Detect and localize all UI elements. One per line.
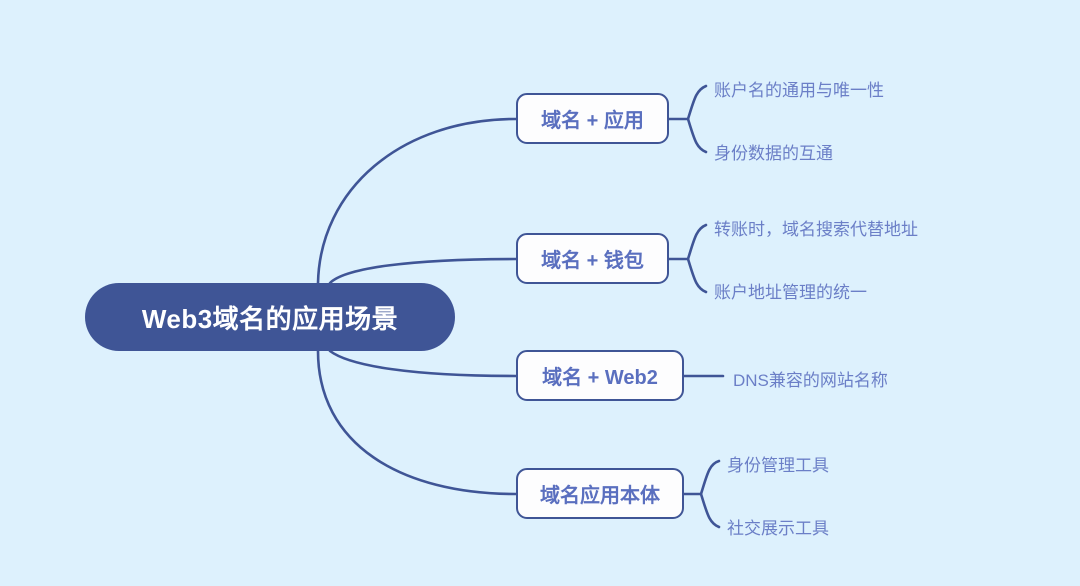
- edge-branch-4-to-leaf-2: [701, 494, 719, 527]
- branch-node-label: 域名 + 钱包: [541, 244, 644, 273]
- leaf-node[interactable]: 转账时，域名搜索代替地址: [714, 215, 918, 240]
- edge-branch-2-to-leaf-1: [688, 225, 706, 259]
- leaf-node[interactable]: 身份管理工具: [727, 451, 829, 476]
- edge-branch-1-to-leaf-1: [688, 86, 706, 119]
- branch-node-domain-native[interactable]: 域名应用本体: [516, 468, 684, 519]
- edge-branch-2-to-leaf-2: [688, 259, 706, 292]
- branch-node-label: 域名应用本体: [540, 479, 660, 508]
- root-node-label: Web3域名的应用场景: [142, 299, 398, 336]
- root-node[interactable]: Web3域名的应用场景: [85, 283, 455, 351]
- edge-branch-1-to-leaf-2: [688, 119, 706, 152]
- leaf-node[interactable]: 账户名的通用与唯一性: [714, 76, 884, 101]
- edge-root-to-branch-2: [330, 259, 516, 283]
- edge-branch-4-to-leaf-1: [701, 461, 719, 494]
- mindmap-canvas: Web3域名的应用场景 域名 + 应用 域名 + 钱包 域名 + Web2 域名…: [0, 0, 1080, 586]
- branch-node-domain-web2[interactable]: 域名 + Web2: [516, 350, 684, 401]
- edge-root-to-branch-3: [330, 351, 516, 376]
- leaf-node[interactable]: 账户地址管理的统一: [714, 278, 867, 303]
- leaf-node[interactable]: 社交展示工具: [727, 514, 829, 539]
- leaf-node[interactable]: DNS兼容的网站名称: [733, 366, 888, 391]
- branch-node-label: 域名 + Web2: [542, 361, 658, 390]
- branch-node-label: 域名 + 应用: [541, 104, 644, 133]
- branch-node-domain-app[interactable]: 域名 + 应用: [516, 93, 669, 144]
- branch-node-domain-wallet[interactable]: 域名 + 钱包: [516, 233, 669, 284]
- leaf-node[interactable]: 身份数据的互通: [714, 139, 833, 164]
